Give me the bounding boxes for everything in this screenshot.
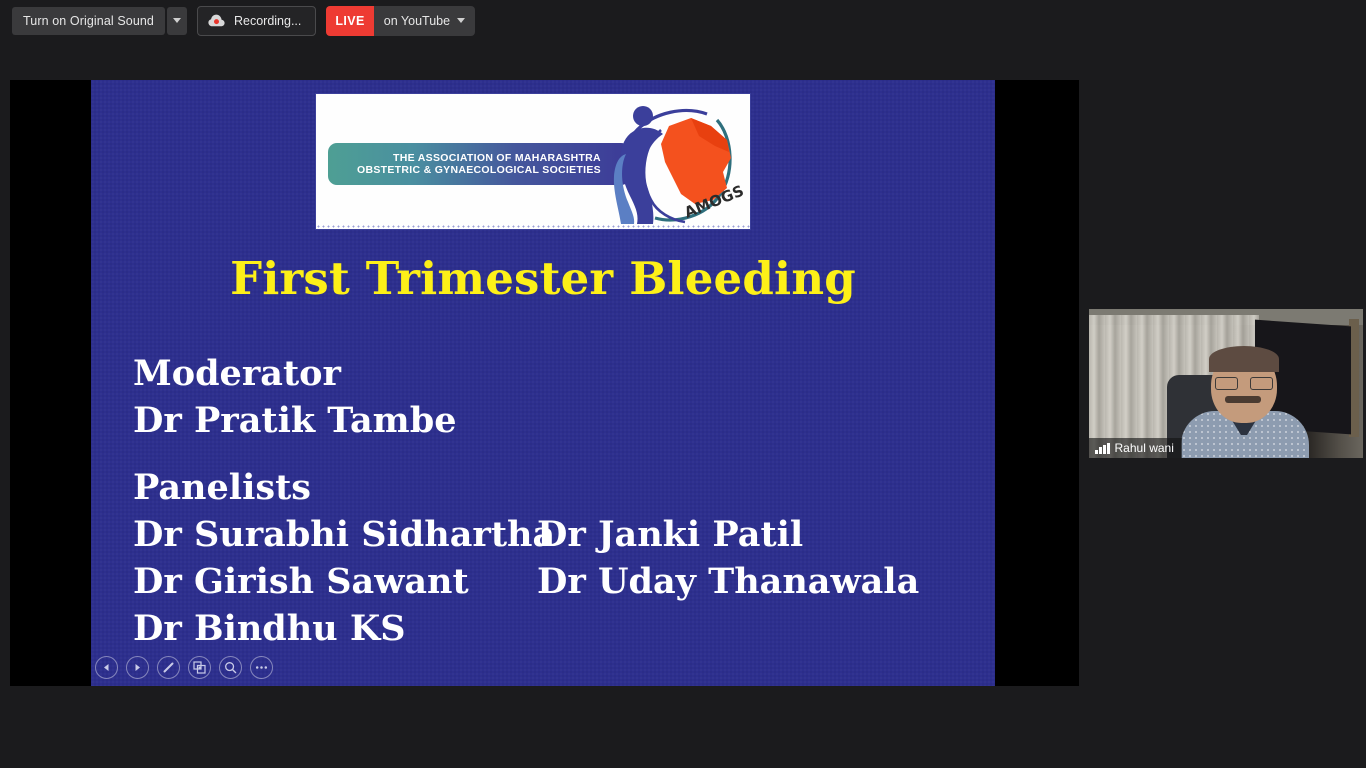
annotate-button[interactable]	[157, 656, 180, 679]
triangle-right-icon	[133, 663, 142, 672]
original-sound-group: Turn on Original Sound	[12, 7, 187, 35]
live-stream-group[interactable]: LIVE on YouTube	[326, 6, 475, 36]
logo-banner-line2: OBSTETRIC & GYNAECOLOGICAL SOCIETIES	[357, 164, 601, 176]
ellipsis-icon	[255, 665, 268, 670]
live-platform-button[interactable]: on YouTube	[374, 6, 475, 36]
amogs-emblem-icon: AMOGS	[599, 96, 744, 228]
live-badge: LIVE	[326, 6, 373, 36]
cloud-recording-icon	[208, 14, 225, 27]
zoom-top-toolbar: Turn on Original Sound Recording... LIVE…	[0, 0, 1366, 41]
shared-slide[interactable]: THE ASSOCIATION OF MAHARASHTRA OBSTETRIC…	[91, 80, 995, 686]
signal-bars-icon	[1095, 443, 1110, 454]
previous-slide-button[interactable]	[95, 656, 118, 679]
next-slide-button[interactable]	[126, 656, 149, 679]
pen-icon	[162, 661, 175, 674]
video-person-glasses	[1215, 377, 1273, 390]
panelist-name: Dr Surabhi Sidhartha	[133, 511, 537, 558]
video-person-hair	[1209, 346, 1279, 372]
live-platform-label: on YouTube	[384, 14, 450, 28]
panelist-row: Dr Surabhi Sidhartha Dr Janki Patil	[133, 511, 963, 558]
triangle-left-icon	[102, 663, 111, 672]
recording-label: Recording...	[234, 14, 301, 28]
recording-status-button[interactable]: Recording...	[197, 6, 316, 36]
video-person-moustache	[1225, 396, 1261, 403]
panelist-name: Dr Girish Sawant	[133, 558, 537, 605]
slide-title: First Trimester Bleeding	[91, 252, 995, 305]
logo-banner: THE ASSOCIATION OF MAHARASHTRA OBSTETRIC…	[328, 143, 630, 185]
magnifier-icon	[224, 661, 237, 674]
slide-body: Moderator Dr Pratik Tambe Panelists Dr S…	[133, 350, 963, 652]
amogs-logo: THE ASSOCIATION OF MAHARASHTRA OBSTETRIC…	[315, 93, 751, 230]
panelist-name: Dr Uday Thanawala	[537, 558, 919, 605]
original-sound-dropdown-button[interactable]	[167, 7, 187, 35]
grid-copy-icon	[193, 661, 206, 674]
logo-card-dot-edge	[316, 224, 750, 229]
chevron-down-icon	[173, 18, 181, 23]
moderator-name: Dr Pratik Tambe	[133, 397, 963, 444]
moderator-heading: Moderator	[133, 350, 963, 397]
panelist-row: Dr Girish Sawant Dr Uday Thanawala	[133, 558, 963, 605]
slide-thumbnails-button[interactable]	[188, 656, 211, 679]
panelist-name: Dr Bindhu KS	[133, 605, 537, 652]
chevron-down-icon	[457, 18, 465, 23]
zoom-button[interactable]	[219, 656, 242, 679]
more-options-button[interactable]	[250, 656, 273, 679]
participant-name-badge: Rahul wani	[1089, 438, 1182, 458]
participant-name-label: Rahul wani	[1115, 441, 1174, 455]
panelist-name: Dr Janki Patil	[537, 511, 803, 558]
panelist-row: Dr Bindhu KS	[133, 605, 963, 652]
logo-banner-line1: THE ASSOCIATION OF MAHARASHTRA	[357, 152, 601, 164]
panelists-heading: Panelists	[133, 464, 963, 511]
turn-on-original-sound-button[interactable]: Turn on Original Sound	[12, 7, 165, 35]
participant-video-tile[interactable]: Rahul wani	[1089, 309, 1363, 458]
slide-control-bar	[95, 656, 273, 679]
video-person	[1185, 349, 1305, 458]
